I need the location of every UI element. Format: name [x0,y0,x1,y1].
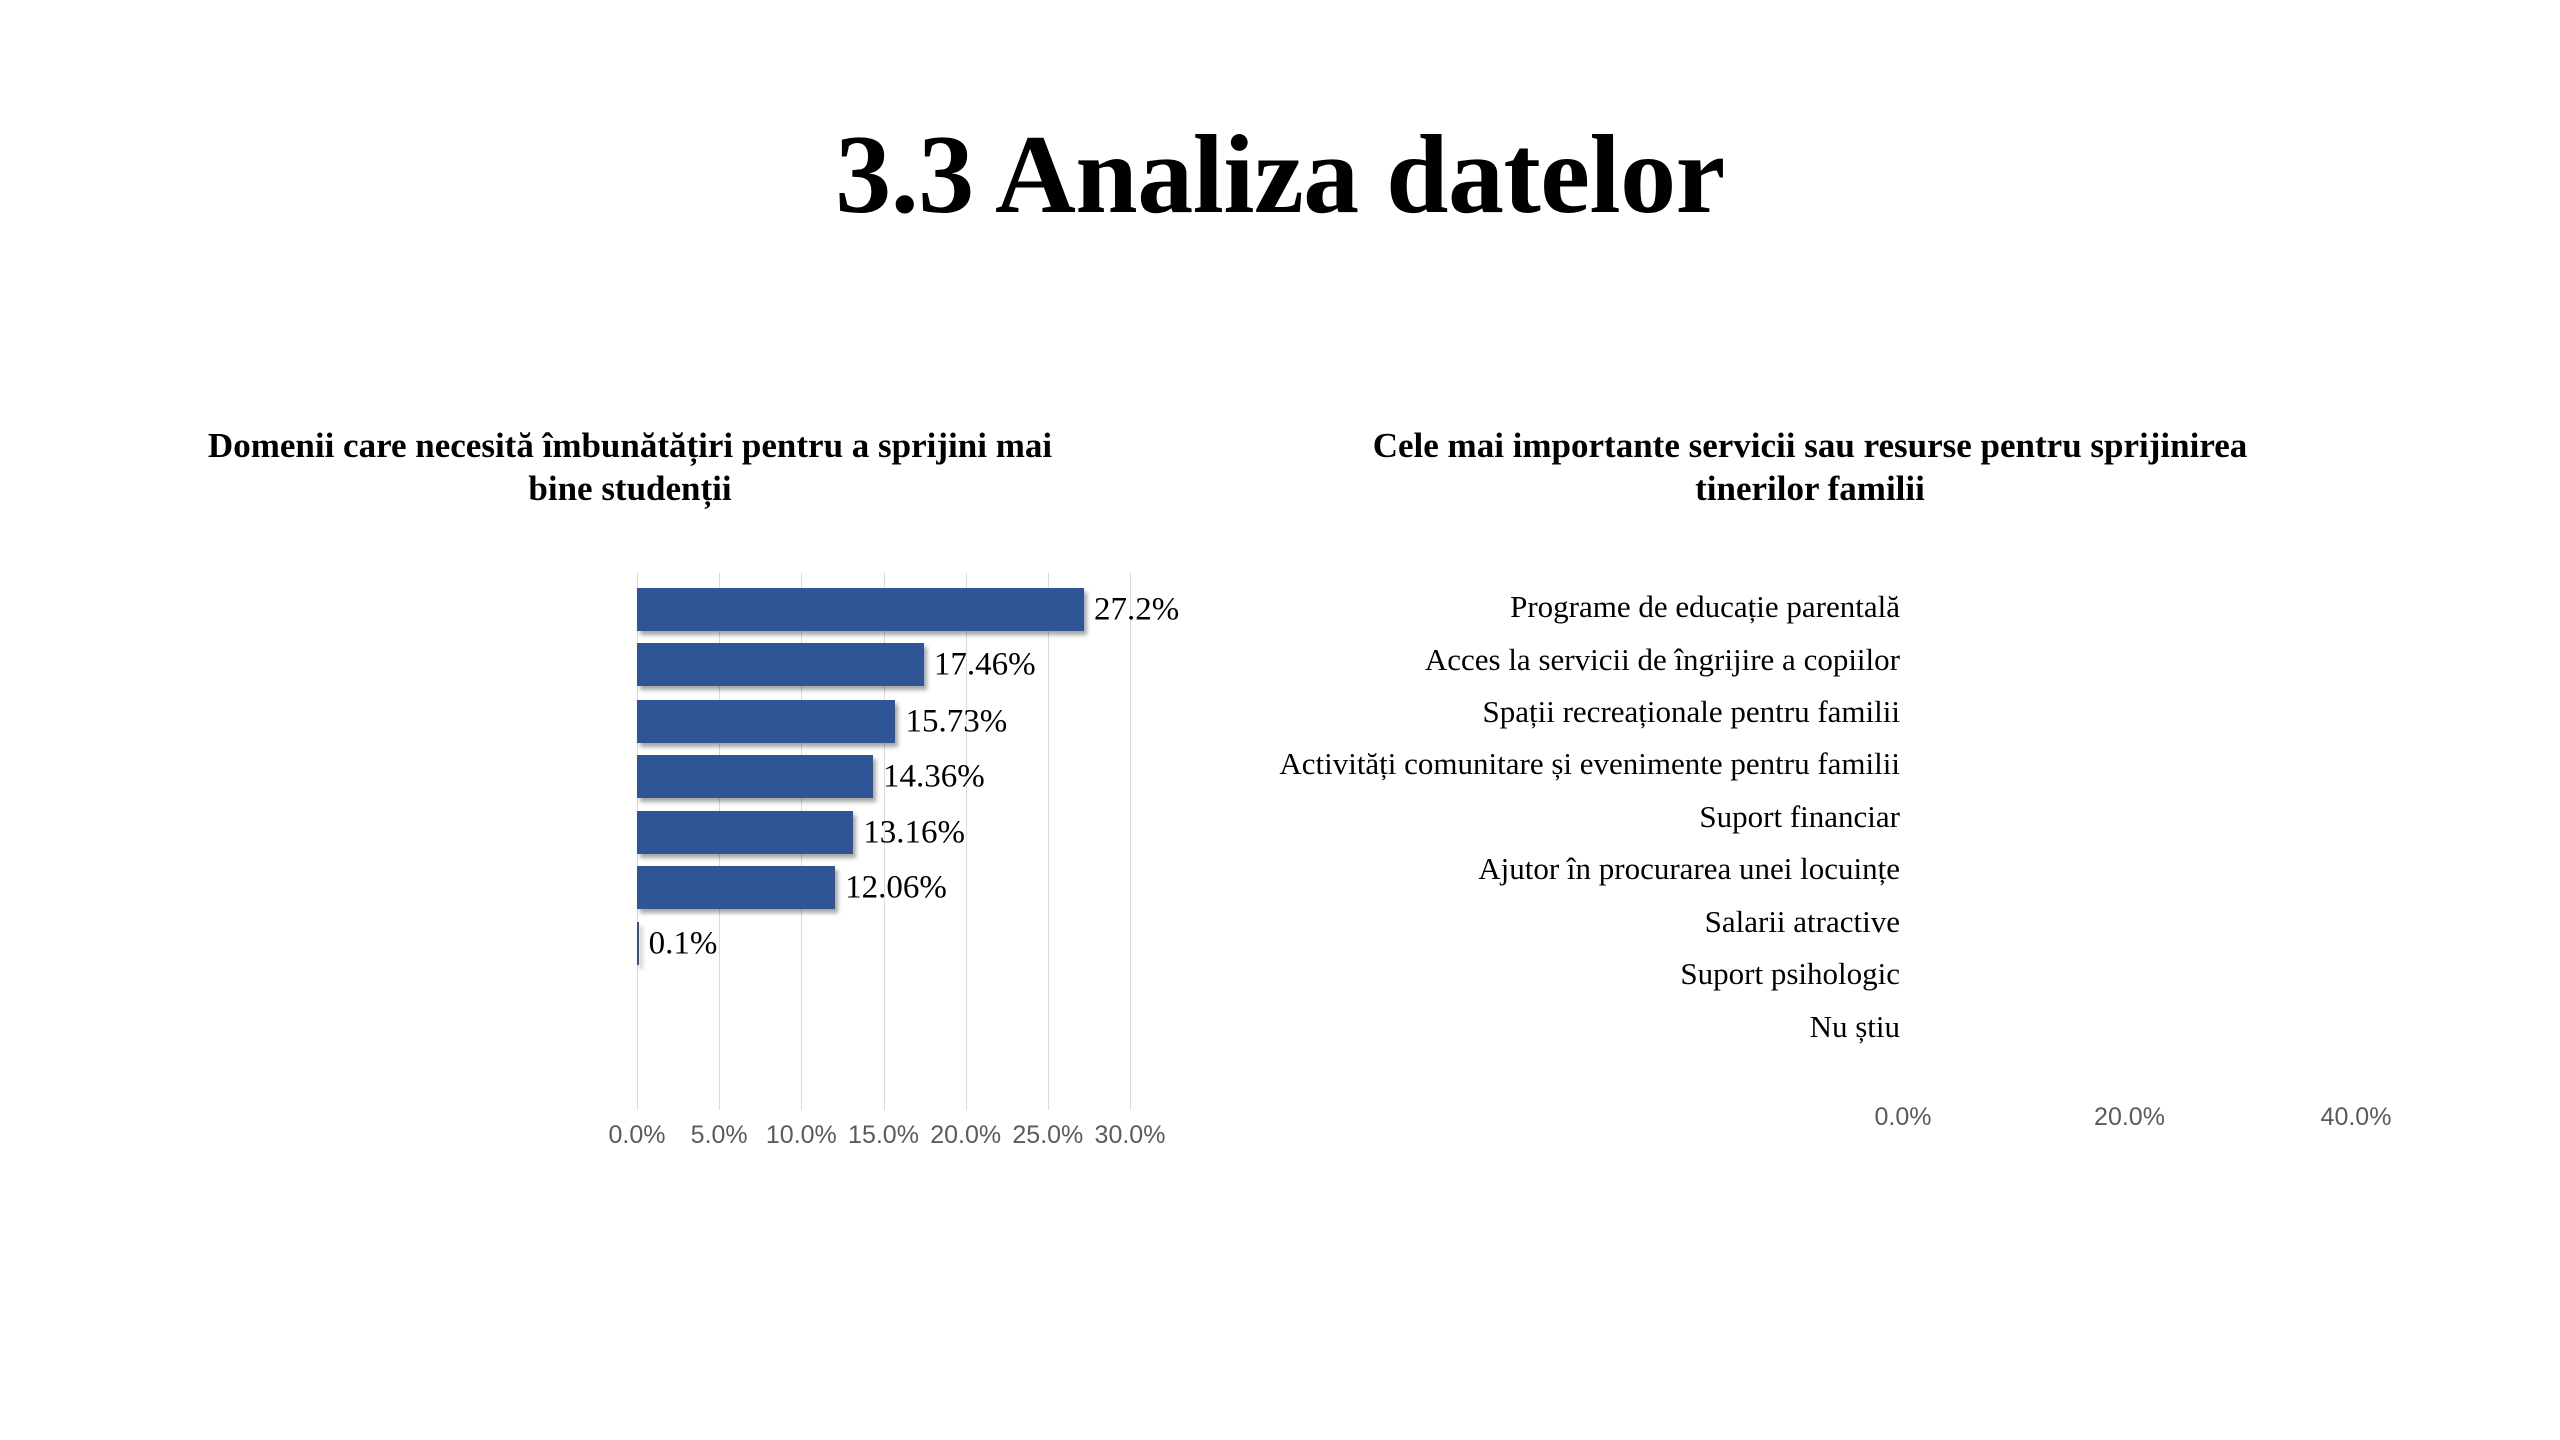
x-axis-tick-label: 30.0% [1095,1121,1166,1150]
bar[interactable] [637,643,924,686]
chart-title-left: Domenii care necesită îmbunătățiri pentr… [180,424,1080,511]
category-label: Acces la servicii de îngrijire a copiilo… [1260,642,1900,679]
x-axis-tick-label: 40.0% [2321,1103,2392,1132]
bars-left: 27.2%17.46%15.73%14.36%13.16%12.06%0.1% [637,573,1130,1110]
bar-value-label: 17.46% [934,646,1036,683]
bar[interactable] [637,588,1084,631]
bar[interactable] [637,811,853,854]
bar-value-label: 27.2% [1094,591,1179,628]
x-axis-tick-label: 15.0% [848,1121,919,1150]
category-label: Suport financiar [1260,799,1900,836]
category-label: Spații recreaționale pentru familii [1260,694,1900,731]
bar-row[interactable]: 15.73% [637,700,1130,743]
category-label: Salarii atractive [1260,904,1900,941]
category-label: Nu știu [1260,1009,1900,1046]
x-axis-tick-label: 10.0% [766,1121,837,1150]
bar-value-label: 12.06% [845,869,947,906]
x-axis-tick-label: 5.0% [691,1121,748,1150]
x-axis-tick-label: 0.0% [609,1121,666,1150]
bar-value-label: 0.1% [649,925,718,962]
category-label: Ajutor în procurarea unei locuințe [1260,851,1900,888]
gridline [1130,573,1131,1110]
bar-row[interactable]: 27.2% [637,588,1130,631]
bar[interactable] [637,922,639,965]
bar[interactable] [637,700,895,743]
x-axis-tick-label: 0.0% [1875,1103,1932,1132]
category-label: Activități comunitare și evenimente pent… [1260,746,1900,783]
x-axis-tick-label: 20.0% [2094,1103,2165,1132]
chart-domenii-imbunatatiri: Domenii care necesită îmbunătățiri pentr… [0,0,1250,1440]
bar-value-label: 13.16% [863,814,965,851]
bar[interactable] [637,866,835,909]
chart-title-right: Cele mai importante servicii sau resurse… [1340,424,2280,511]
bar-row[interactable]: 13.16% [637,811,1130,854]
category-label: Programe de educație parentală [1260,589,1900,626]
bar-row[interactable]: 12.06% [637,866,1130,909]
bar-value-label: 14.36% [883,758,985,795]
bar-row[interactable]: 14.36% [637,755,1130,798]
plot-area-left: 27.2%17.46%15.73%14.36%13.16%12.06%0.1% [637,573,1130,1110]
bar-row[interactable]: 17.46% [637,643,1130,686]
x-axis-tick-label: 20.0% [930,1121,1001,1150]
category-label: Suport psihologic [1260,956,1900,993]
bar[interactable] [637,755,873,798]
chart-servicii-familii: Cele mai importante servicii sau resurse… [1250,0,2560,1440]
bar-row[interactable]: 0.1% [637,922,1130,965]
bar-value-label: 15.73% [905,703,1007,740]
x-axis-tick-label: 25.0% [1012,1121,1083,1150]
